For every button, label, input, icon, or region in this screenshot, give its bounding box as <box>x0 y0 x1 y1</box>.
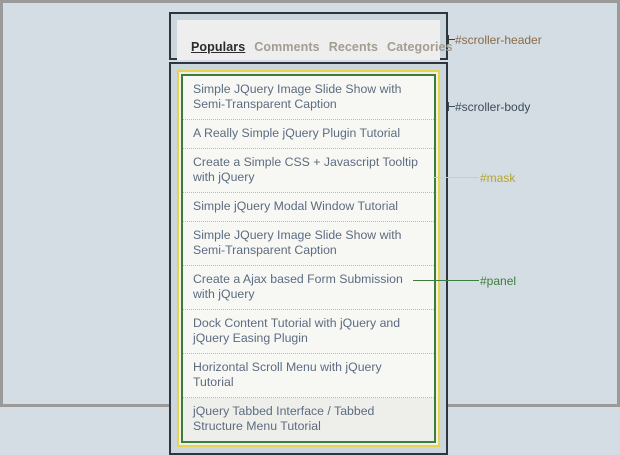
annotation-leader-scroller-body <box>448 106 455 107</box>
page-canvas: Populars Comments Recents Categories Sim… <box>0 0 620 407</box>
list-item-link[interactable]: jQuery Tabbed Interface / Tabbed Structu… <box>183 398 434 441</box>
list-item-link[interactable]: Create a Simple CSS + Javascript Tooltip… <box>183 149 434 192</box>
scroller-header-tabs: Populars Comments Recents Categories <box>177 20 440 60</box>
annotation-leader-panel <box>413 280 479 281</box>
annotation-leader-scroller-header <box>448 39 455 40</box>
list-item-link[interactable]: Simple JQuery Image Slide Show with Semi… <box>183 222 434 265</box>
annotation-label-scroller-header: #scroller-header <box>455 33 542 47</box>
list-item[interactable]: Simple JQuery Image Slide Show with Semi… <box>183 76 434 120</box>
list-item[interactable]: Horizontal Scroll Menu with jQuery Tutor… <box>183 354 434 398</box>
list-item[interactable]: Create a Simple CSS + Javascript Tooltip… <box>183 149 434 193</box>
annotation-label-mask: #mask <box>480 171 515 185</box>
annotation-label-panel: #panel <box>480 274 516 288</box>
tab-populars[interactable]: Populars <box>191 40 245 54</box>
scroller-widget: Populars Comments Recents Categories Sim… <box>169 12 448 455</box>
scroller-header: Populars Comments Recents Categories <box>169 12 448 60</box>
panel-item-list: Simple JQuery Image Slide Show with Semi… <box>183 76 434 441</box>
list-item-link[interactable]: Horizontal Scroll Menu with jQuery Tutor… <box>183 354 434 397</box>
list-item[interactable]: Create a Ajax based Form Submission with… <box>183 266 434 310</box>
list-item[interactable]: jQuery Tabbed Interface / Tabbed Structu… <box>183 398 434 441</box>
list-item-link[interactable]: Simple JQuery Image Slide Show with Semi… <box>183 76 434 119</box>
list-item[interactable]: Simple jQuery Modal Window Tutorial <box>183 193 434 222</box>
annotation-leader-mask <box>433 177 479 178</box>
list-item[interactable]: Dock Content Tutorial with jQuery and jQ… <box>183 310 434 354</box>
annotation-label-scroller-body: #scroller-body <box>455 100 530 114</box>
list-item-link[interactable]: Dock Content Tutorial with jQuery and jQ… <box>183 310 434 353</box>
list-item[interactable]: Simple JQuery Image Slide Show with Semi… <box>183 222 434 266</box>
mask-container: Simple JQuery Image Slide Show with Semi… <box>177 70 440 447</box>
list-item-link[interactable]: Simple jQuery Modal Window Tutorial <box>183 193 434 221</box>
tab-categories[interactable]: Categories <box>387 40 453 54</box>
panel-container: Simple JQuery Image Slide Show with Semi… <box>181 74 436 443</box>
scroller-body: Simple JQuery Image Slide Show with Semi… <box>169 62 448 455</box>
list-item-link[interactable]: A Really Simple jQuery Plugin Tutorial <box>183 120 434 148</box>
list-item-link[interactable]: Create a Ajax based Form Submission with… <box>183 266 434 309</box>
list-item[interactable]: A Really Simple jQuery Plugin Tutorial <box>183 120 434 149</box>
tab-comments[interactable]: Comments <box>254 40 319 54</box>
tab-recents[interactable]: Recents <box>329 40 378 54</box>
